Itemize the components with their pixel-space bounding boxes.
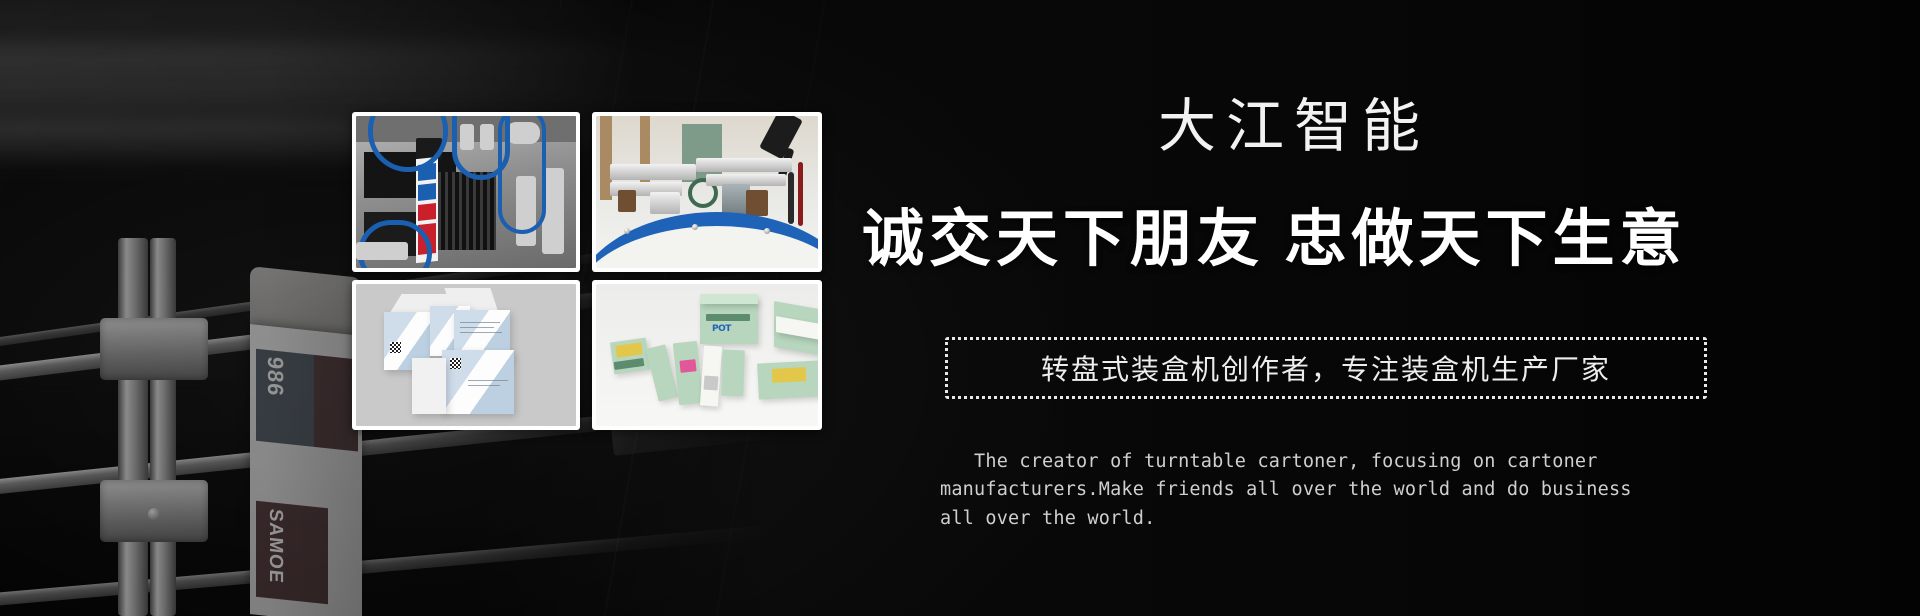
headline-slogan: 诚交天下朋友 忠做天下生意: [862, 188, 1872, 278]
gallery-item-0[interactable]: [352, 112, 580, 272]
english-line-1: The creator of turntable cartoner, focus…: [940, 448, 1760, 476]
tagline-text: 转盘式装盒机创作者，专注装盒机生产厂家: [1041, 348, 1611, 388]
hero-banner: 986 SAMOE: [0, 0, 1920, 616]
english-line-2: manufacturers.Make friends all over the …: [940, 476, 1760, 504]
photo-robot-turntable: [596, 116, 818, 268]
photo-gallery: POT: [352, 112, 822, 430]
carton-pot-label: POT: [712, 324, 731, 334]
english-description: The creator of turntable cartoner, focus…: [940, 448, 1760, 533]
gallery-item-2[interactable]: [352, 280, 580, 430]
photo-machine-blue-tubes: [356, 116, 576, 268]
english-line-3: all over the world.: [940, 505, 1760, 533]
brand-name: 大江智能: [1158, 94, 1718, 161]
photo-white-cartons: [356, 284, 576, 426]
tagline-box: 转盘式装盒机创作者，专注装盒机生产厂家: [945, 337, 1707, 399]
gallery-item-3[interactable]: POT: [592, 280, 822, 430]
photo-green-cartons: POT: [596, 284, 818, 426]
gallery-item-1[interactable]: [592, 112, 822, 272]
